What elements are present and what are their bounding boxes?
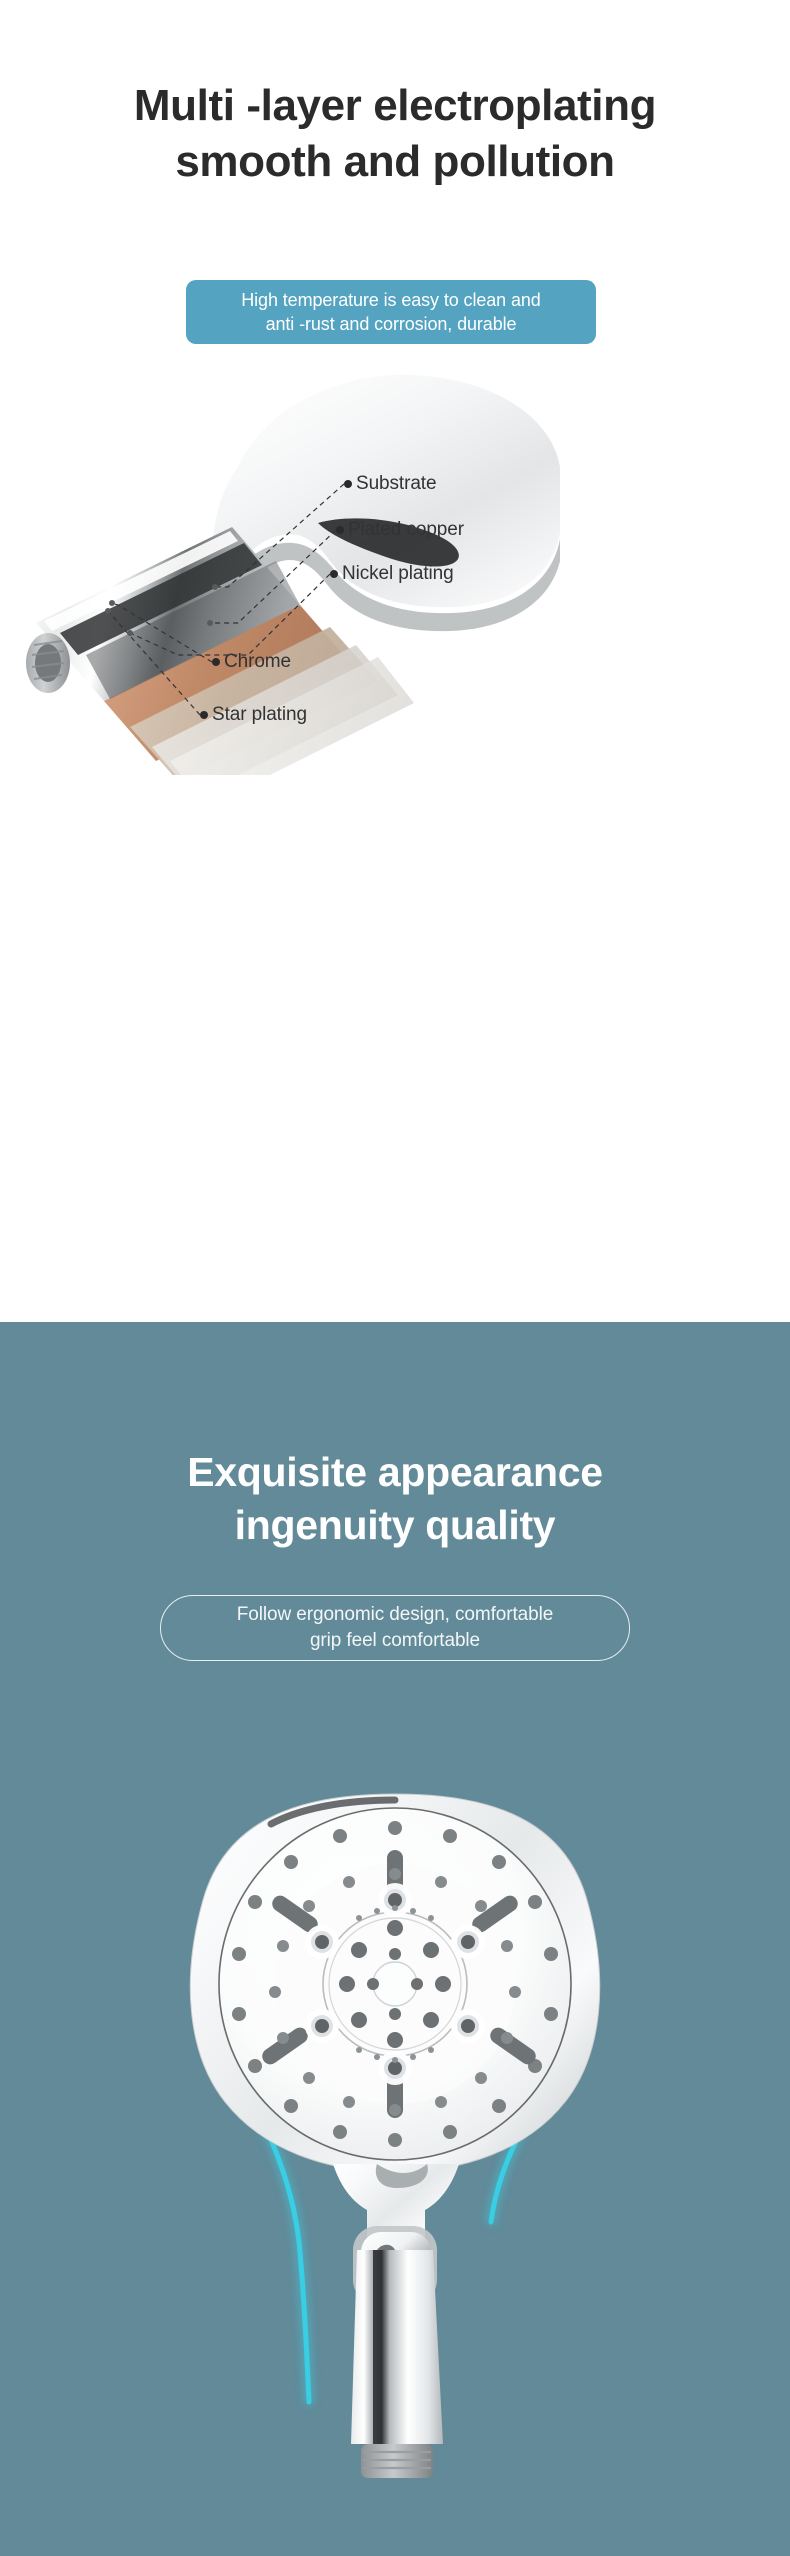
section-multi-layer-electroplating: Multi -layer electroplating smooth and p…	[0, 0, 790, 1322]
section1-headline: Multi -layer electroplating smooth and p…	[0, 78, 790, 191]
callout-label-substrate: Substrate	[356, 473, 436, 495]
layer-callouts: Substrate Plated copper Nickel plating C…	[0, 355, 790, 995]
center-hub	[373, 1962, 417, 2006]
shower-head-front-hero	[95, 1702, 695, 2502]
callout-dot-chrome	[212, 658, 220, 666]
section1-headline-line2: smooth and pollution	[0, 134, 790, 190]
section2-badge-line2: grip feel comfortable	[310, 1628, 480, 1654]
section1-badge-line1: High temperature is easy to clean and	[241, 288, 540, 312]
section1-badge-line2: anti -rust and corrosion, durable	[266, 312, 517, 336]
callout-label-plated-copper: Plated copper	[348, 519, 464, 541]
section1-headline-line1: Multi -layer electroplating	[134, 81, 656, 130]
section2-headline-line1: Exquisite appearance	[187, 1449, 603, 1495]
callout-dot-star-plating	[200, 711, 208, 719]
section2-feature-badge: Follow ergonomic design, comfortable gri…	[160, 1595, 630, 1661]
section2-headline: Exquisite appearance ingenuity quality	[0, 1446, 790, 1553]
callout-label-chrome: Chrome	[224, 651, 291, 673]
section2-badge-line1: Follow ergonomic design, comfortable	[237, 1602, 553, 1628]
product-detail-page: Multi -layer electroplating smooth and p…	[0, 0, 790, 2556]
callout-anchor-dots	[105, 584, 218, 636]
callout-label-star-plating: Star plating	[212, 704, 307, 726]
callout-leader-lines	[0, 355, 790, 995]
callout-dot-nickel-plating	[330, 570, 338, 578]
callout-dot-substrate	[344, 480, 352, 488]
section2-headline-line2: ingenuity quality	[0, 1499, 790, 1552]
callout-label-nickel-plating: Nickel plating	[342, 563, 454, 585]
section1-feature-badge: High temperature is easy to clean and an…	[186, 280, 596, 344]
section-exquisite-appearance: Exquisite appearance ingenuity quality F…	[0, 1322, 790, 2556]
handle-reflection	[373, 2250, 382, 2444]
callout-dot-plated-copper	[336, 526, 344, 534]
shower-handle	[351, 2250, 443, 2444]
